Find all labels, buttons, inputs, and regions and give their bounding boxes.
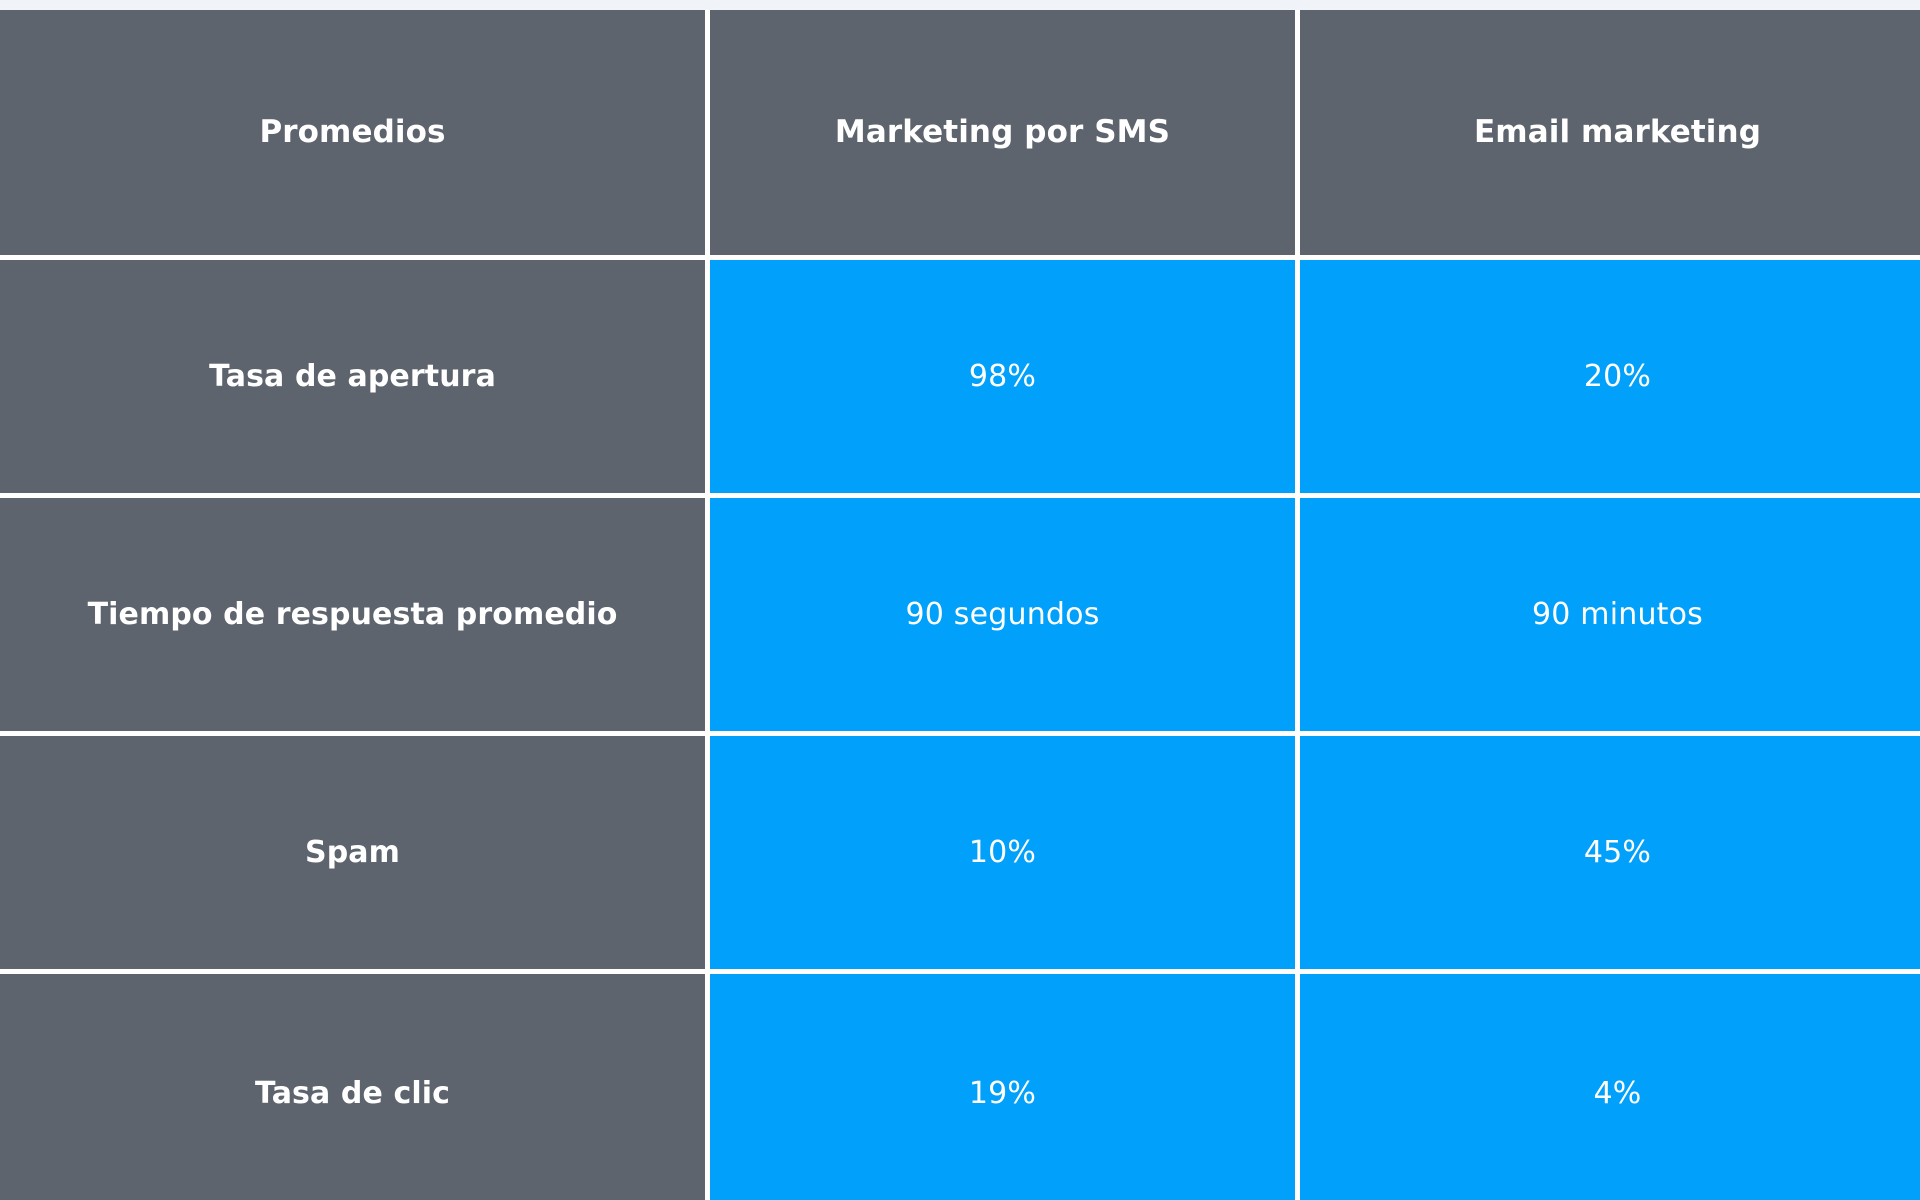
row-label-tasa-de-clic: Tasa de clic [0, 974, 705, 1200]
cell-email-spam: 45% [1300, 736, 1920, 969]
metrics-comparison-table: Promedios Marketing por SMS Email market… [0, 5, 1920, 1200]
cell-email-tiempo-de-respuesta-promedio: 90 minutos [1300, 498, 1920, 731]
column-header-email: Email marketing [1300, 10, 1920, 255]
row-label-spam: Spam [0, 736, 705, 969]
cell-email-tasa-de-clic: 4% [1300, 974, 1920, 1200]
cell-sms-tasa-de-clic: 19% [710, 974, 1295, 1200]
cell-email-tasa-de-apertura: 20% [1300, 260, 1920, 493]
cell-sms-tasa-de-apertura: 98% [710, 260, 1295, 493]
table-header-row: Promedios Marketing por SMS Email market… [0, 10, 1920, 255]
table-body: Tasa de apertura 98% 20% Tiempo de respu… [0, 260, 1920, 1200]
table-row: Tiempo de respuesta promedio 90 segundos… [0, 498, 1920, 731]
row-label-tasa-de-apertura: Tasa de apertura [0, 260, 705, 493]
row-label-tiempo-de-respuesta-promedio: Tiempo de respuesta promedio [0, 498, 705, 731]
column-header-metric: Promedios [0, 10, 705, 255]
table-header: Promedios Marketing por SMS Email market… [0, 10, 1920, 255]
cell-sms-spam: 10% [710, 736, 1295, 969]
table-row: Spam 10% 45% [0, 736, 1920, 969]
cell-sms-tiempo-de-respuesta-promedio: 90 segundos [710, 498, 1295, 731]
table-row: Tasa de clic 19% 4% [0, 974, 1920, 1200]
table-row: Tasa de apertura 98% 20% [0, 260, 1920, 493]
comparison-table-container: Promedios Marketing por SMS Email market… [0, 0, 1920, 1200]
column-header-sms: Marketing por SMS [710, 10, 1295, 255]
